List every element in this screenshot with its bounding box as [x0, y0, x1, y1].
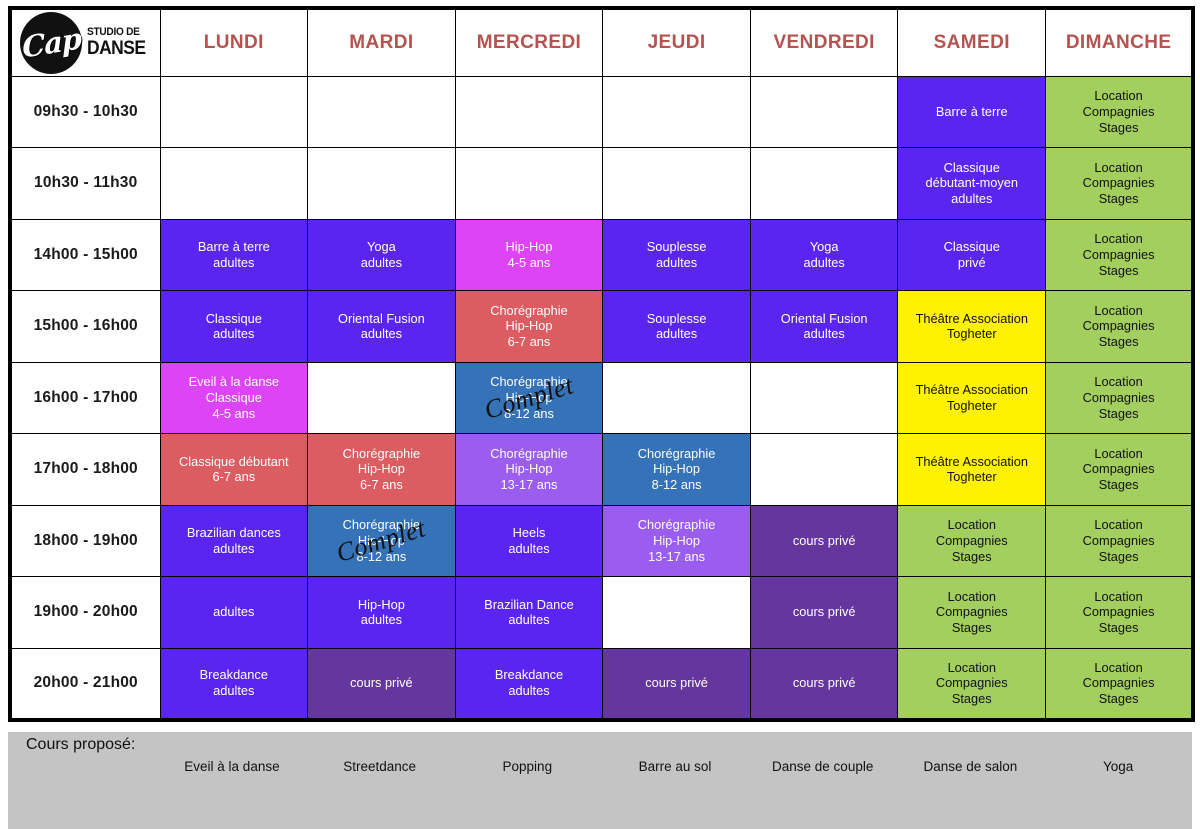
class-label: Classique débutant 6-7 ans — [164, 454, 305, 485]
day-header-mercredi: MERCREDI — [455, 8, 603, 76]
schedule-row: 10h30 - 11h30Classique débutant-moyen ad… — [10, 148, 1193, 220]
class-label: Chorégraphie Hip-Hop 6-7 ans — [311, 446, 452, 493]
table-header: Cap STUDIO DE DANSE LUNDI MARDI MERCREDI… — [10, 8, 1193, 76]
class-cell[interactable]: cours privé — [603, 648, 751, 720]
empty-cell — [308, 362, 456, 434]
class-cell[interactable]: Théâtre Association Togheter — [898, 362, 1046, 434]
empty-cell — [603, 76, 751, 148]
class-cell[interactable]: Location Compagnies Stages — [1046, 362, 1194, 434]
class-cell[interactable]: Location Compagnies Stages — [1046, 434, 1194, 506]
class-label: cours privé — [754, 675, 895, 691]
class-cell[interactable]: Théâtre Association Togheter — [898, 291, 1046, 363]
empty-cell — [750, 76, 898, 148]
empty-cell — [455, 148, 603, 220]
class-cell[interactable]: Chorégraphie Hip-Hop 6-7 ans — [308, 434, 456, 506]
legend-item: Streetdance — [306, 732, 454, 804]
class-cell[interactable]: Location Compagnies Stages — [1046, 76, 1194, 148]
class-cell[interactable]: Souplesse adultes — [603, 219, 751, 291]
class-cell[interactable]: Chorégraphie Hip-Hop 13-17 ans — [455, 434, 603, 506]
weekly-schedule-table: Cap STUDIO DE DANSE LUNDI MARDI MERCREDI… — [8, 6, 1195, 722]
class-cell[interactable]: Classique privé — [898, 219, 1046, 291]
class-cell[interactable]: Souplesse adultes — [603, 291, 751, 363]
class-label: Chorégraphie Hip-Hop 8-12 ans — [311, 517, 452, 564]
class-cell[interactable]: Eveil à la danse Classique 4-5 ans — [160, 362, 308, 434]
day-header-dimanche: DIMANCHE — [1046, 8, 1194, 76]
class-cell[interactable]: Location Compagnies Stages — [1046, 219, 1194, 291]
legend-item: Danse de couple — [749, 732, 897, 804]
day-header-lundi: LUNDI — [160, 8, 308, 76]
empty-cell — [308, 76, 456, 148]
schedule-page: Cap STUDIO DE DANSE LUNDI MARDI MERCREDI… — [0, 0, 1200, 829]
legend-row: Cours proposé:Eveil à la danseStreetdanc… — [8, 732, 1192, 804]
class-cell[interactable]: Yoga adultes — [750, 219, 898, 291]
class-cell[interactable]: Classique adultes — [160, 291, 308, 363]
class-cell[interactable]: Location Compagnies Stages — [1046, 648, 1194, 720]
legend-title: Cours proposé: — [8, 732, 158, 804]
class-label: Location Compagnies Stages — [901, 517, 1042, 564]
class-label: Théâtre Association Togheter — [901, 311, 1042, 342]
time-slot-label: 20h00 - 21h00 — [10, 648, 160, 720]
class-cell[interactable]: adultes — [160, 577, 308, 649]
class-label: Souplesse adultes — [606, 311, 747, 342]
empty-cell — [750, 362, 898, 434]
class-label: cours privé — [754, 604, 895, 620]
class-label: Brazilian Dance adultes — [459, 597, 600, 628]
schedule-row: 18h00 - 19h00Brazilian dances adultesCho… — [10, 505, 1193, 577]
class-label: Location Compagnies Stages — [901, 589, 1042, 636]
class-cell[interactable]: Location Compagnies Stages — [1046, 148, 1194, 220]
class-cell[interactable]: cours privé — [308, 648, 456, 720]
time-slot-label: 18h00 - 19h00 — [10, 505, 160, 577]
class-label: Chorégraphie Hip-Hop 13-17 ans — [606, 517, 747, 564]
class-cell[interactable]: Location Compagnies Stages — [898, 505, 1046, 577]
class-label: Chorégraphie Hip-Hop 8-12 ans — [606, 446, 747, 493]
empty-cell — [603, 148, 751, 220]
class-cell[interactable]: Hip-Hop 4-5 ans — [455, 219, 603, 291]
legend-item: Chorégraphie — [306, 803, 454, 829]
class-label: Chorégraphie Hip-Hop 6-7 ans — [459, 303, 600, 350]
schedule-row: 19h00 - 20h00adultesHip-Hop adultesBrazi… — [10, 577, 1193, 649]
legend-item: Souplesse — [453, 803, 601, 829]
class-label: Location Compagnies Stages — [1049, 517, 1188, 564]
legend-item: Heels — [897, 803, 1045, 829]
logo-line-2: DANSE — [87, 39, 145, 58]
empty-cell — [750, 148, 898, 220]
studio-logo: Cap STUDIO DE DANSE — [10, 8, 160, 76]
empty-cell — [750, 434, 898, 506]
class-label: Breakdance adultes — [164, 667, 305, 698]
day-header-mardi: MARDI — [308, 8, 456, 76]
legend-body: Cours proposé:Eveil à la danseStreetdanc… — [8, 732, 1192, 829]
schedule-row: 15h00 - 16h00Classique adultesOriental F… — [10, 291, 1193, 363]
schedule-row: 17h00 - 18h00Classique débutant 6-7 ansC… — [10, 434, 1193, 506]
day-header-samedi: SAMEDI — [898, 8, 1046, 76]
class-label: Hip-Hop 4-5 ans — [459, 239, 600, 270]
time-slot-label: 10h30 - 11h30 — [10, 148, 160, 220]
class-label: Location Compagnies Stages — [1049, 88, 1188, 135]
logo-circle-icon: Cap — [20, 12, 82, 74]
class-cell[interactable]: Oriental Fusion adultes — [308, 291, 456, 363]
class-cell[interactable]: cours privé — [750, 577, 898, 649]
schedule-row: 16h00 - 17h00Eveil à la danse Classique … — [10, 362, 1193, 434]
class-label: Location Compagnies Stages — [1049, 160, 1188, 207]
legend-item: Eveil à la danse — [158, 732, 306, 804]
class-cell[interactable]: Location Compagnies Stages — [898, 648, 1046, 720]
class-cell[interactable]: Yoga adultes — [308, 219, 456, 291]
class-cell[interactable]: Chorégraphie Hip-Hop 8-12 ansComplet — [455, 362, 603, 434]
class-label: Souplesse adultes — [606, 239, 747, 270]
time-slot-label: 15h00 - 16h00 — [10, 291, 160, 363]
class-label: Classique adultes — [164, 311, 305, 342]
empty-cell — [603, 577, 751, 649]
class-cell[interactable]: Breakdance adultes — [160, 648, 308, 720]
class-cell[interactable]: Location Compagnies Stages — [1046, 505, 1194, 577]
day-header-vendredi: VENDREDI — [750, 8, 898, 76]
logo-script-text: Cap — [21, 21, 81, 64]
class-label: Oriental Fusion adultes — [311, 311, 452, 342]
class-label: Oriental Fusion adultes — [754, 311, 895, 342]
class-label: Location Compagnies Stages — [1049, 303, 1188, 350]
class-cell[interactable]: Brazilian Dance adultes — [455, 577, 603, 649]
schedule-row: 20h00 - 21h00Breakdance adultescours pri… — [10, 648, 1193, 720]
empty-cell — [308, 148, 456, 220]
class-label: Breakdance adultes — [459, 667, 600, 698]
courses-legend: Cours proposé:Eveil à la danseStreetdanc… — [8, 732, 1192, 829]
class-label: Location Compagnies Stages — [1049, 374, 1188, 421]
legend-spacer — [8, 803, 158, 829]
class-cell[interactable]: Location Compagnies Stages — [1046, 291, 1194, 363]
class-label: Théâtre Association Togheter — [901, 382, 1042, 413]
class-cell[interactable]: Chorégraphie Hip-Hop 13-17 ans — [603, 505, 751, 577]
class-label: Classique privé — [901, 239, 1042, 270]
class-label: Location Compagnies Stages — [1049, 231, 1188, 278]
schedule-row: 14h00 - 15h00Barre à terre adultesYoga a… — [10, 219, 1193, 291]
time-slot-label: 19h00 - 20h00 — [10, 577, 160, 649]
class-cell[interactable]: Classique débutant-moyen adultes — [898, 148, 1046, 220]
class-cell[interactable]: Théâtre Association Togheter — [898, 434, 1046, 506]
time-slot-label: 14h00 - 15h00 — [10, 219, 160, 291]
class-cell[interactable]: cours privé — [750, 648, 898, 720]
class-label: Chorégraphie Hip-Hop 13-17 ans — [459, 446, 600, 493]
legend-item: Pilates — [1044, 803, 1192, 829]
logo-line-1: STUDIO DE — [87, 27, 140, 38]
empty-cell — [603, 362, 751, 434]
class-label: Barre à terre adultes — [164, 239, 305, 270]
class-cell[interactable]: Breakdance adultes — [455, 648, 603, 720]
class-cell[interactable]: Location Compagnies Stages — [1046, 577, 1194, 649]
time-slot-label: 09h30 - 10h30 — [10, 76, 160, 148]
class-label: Classique débutant-moyen adultes — [901, 160, 1042, 207]
empty-cell — [160, 76, 308, 148]
class-label: cours privé — [606, 675, 747, 691]
empty-cell — [455, 76, 603, 148]
class-label: Eveil à la danse Classique 4-5 ans — [164, 374, 305, 421]
class-label: cours privé — [754, 533, 895, 549]
class-cell[interactable]: Classique débutant 6-7 ans — [160, 434, 308, 506]
class-cell[interactable]: Brazilian dances adultes — [160, 505, 308, 577]
legend-item: Cardio dance — [749, 803, 897, 829]
legend-item: Yoga — [1044, 732, 1192, 804]
legend-item: Barre au sol — [601, 732, 749, 804]
class-label: Yoga adultes — [754, 239, 895, 270]
day-header-jeudi: JEUDI — [603, 8, 751, 76]
class-label: Yoga adultes — [311, 239, 452, 270]
time-slot-label: 16h00 - 17h00 — [10, 362, 160, 434]
legend-item: Danse de salon — [897, 732, 1045, 804]
schedule-row: 09h30 - 10h30Barre à terreLocation Compa… — [10, 76, 1193, 148]
class-cell[interactable]: Chorégraphie Hip-Hop 6-7 ans — [455, 291, 603, 363]
class-label: Barre à terre — [901, 104, 1042, 120]
class-label: Hip-Hop adultes — [311, 597, 452, 628]
class-label: Location Compagnies Stages — [1049, 589, 1188, 636]
class-cell[interactable]: Chorégraphie Hip-Hop 8-12 ansComplet — [308, 505, 456, 577]
class-cell[interactable]: Hip-Hop adultes — [308, 577, 456, 649]
class-label: Location Compagnies Stages — [1049, 660, 1188, 707]
class-cell[interactable]: Heels adultes — [455, 505, 603, 577]
class-cell[interactable]: Barre à terre — [898, 76, 1046, 148]
class-label: Chorégraphie Hip-Hop 8-12 ans — [459, 374, 600, 421]
class-cell[interactable]: Chorégraphie Hip-Hop 8-12 ans — [603, 434, 751, 506]
time-slot-label: 17h00 - 18h00 — [10, 434, 160, 506]
class-cell[interactable]: Oriental Fusion adultes — [750, 291, 898, 363]
class-label: Location Compagnies Stages — [1049, 446, 1188, 493]
legend-item: Classique — [601, 803, 749, 829]
class-cell[interactable]: Barre à terre adultes — [160, 219, 308, 291]
class-label: cours privé — [311, 675, 452, 691]
class-cell[interactable]: Location Compagnies Stages — [898, 577, 1046, 649]
schedule-body: 09h30 - 10h30Barre à terreLocation Compa… — [10, 76, 1193, 720]
legend-row: Hip-HopChorégraphieSouplesseClassiqueCar… — [8, 803, 1192, 829]
header-row: Cap STUDIO DE DANSE LUNDI MARDI MERCREDI… — [10, 8, 1193, 76]
empty-cell — [160, 148, 308, 220]
class-label: Brazilian dances adultes — [164, 525, 305, 556]
class-label: Théâtre Association Togheter — [901, 454, 1042, 485]
class-label: Location Compagnies Stages — [901, 660, 1042, 707]
legend-item: Hip-Hop — [158, 803, 306, 829]
class-label: Heels adultes — [459, 525, 600, 556]
class-label: adultes — [164, 604, 305, 620]
legend-item: Popping — [453, 732, 601, 804]
class-cell[interactable]: cours privé — [750, 505, 898, 577]
